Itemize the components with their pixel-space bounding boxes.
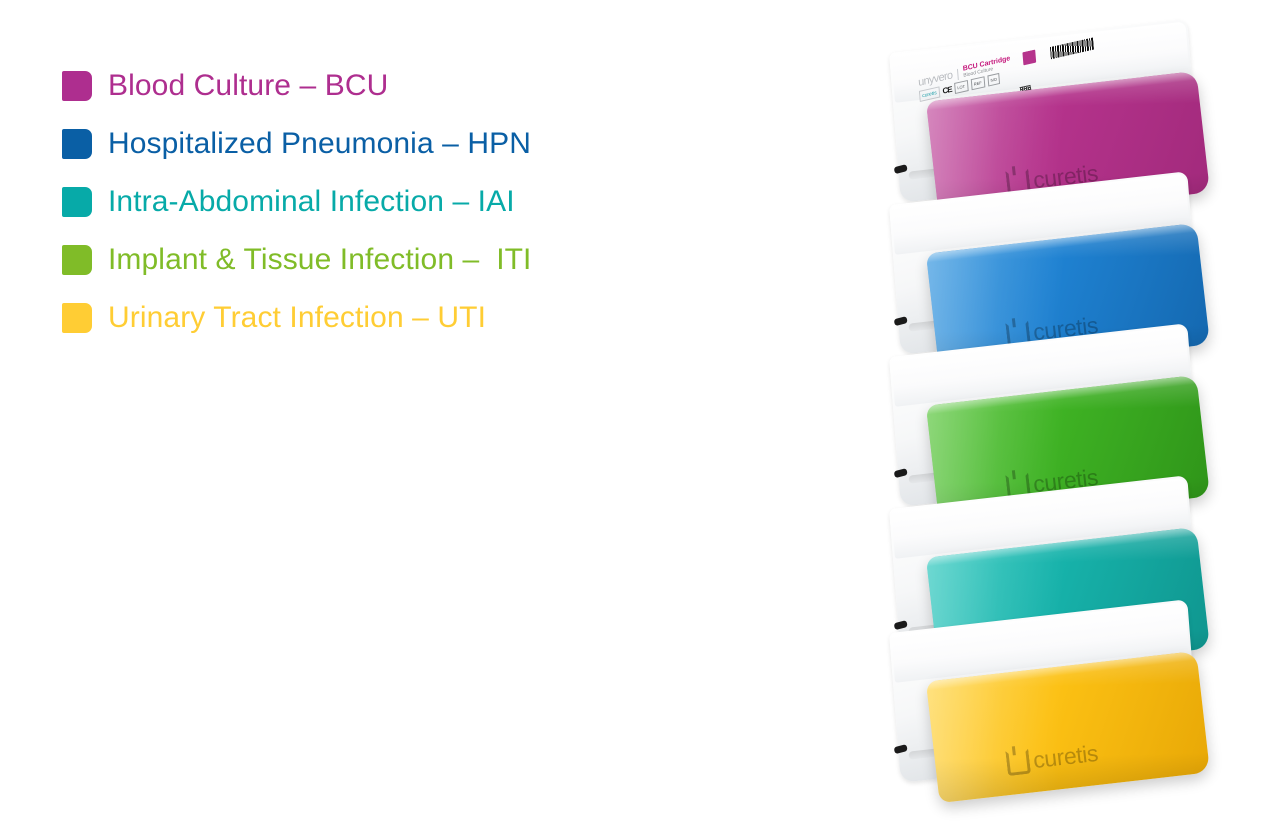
legend-label-iti: Implant & Tissue Infection – ITI (108, 243, 532, 277)
legend-label-hpn: Hospitalized Pneumonia – HPN (108, 127, 531, 161)
cartridge-pin-icon (894, 164, 908, 174)
panel-legend: Blood Culture – BCU Hospitalized Pneumon… (62, 57, 682, 347)
curetis-mark-icon (1005, 749, 1031, 776)
cartridge-uti: curetis (880, 608, 1260, 823)
legend-label-uti: Urinary Tract Infection – UTI (108, 301, 486, 335)
label-ref-box: REF (970, 76, 985, 90)
cartridge-pin-icon (894, 744, 908, 754)
legend-item-iti[interactable]: Implant & Tissue Infection – ITI (62, 231, 682, 289)
cartridge-pin-icon (894, 468, 908, 478)
label-ce-mark-icon: CE (942, 85, 952, 96)
cartridge-stack-image: unyvero BCU Cartridge Blood Culture cure… (880, 28, 1260, 744)
label-color-chip-icon (1023, 49, 1037, 65)
legend-label-bcu: Blood Culture – BCU (108, 69, 388, 103)
legend-label-iai: Intra-Abdominal Infection – IAI (108, 185, 515, 219)
label-ivd-box: IVD (987, 73, 1000, 87)
legend-item-uti[interactable]: Urinary Tract Infection – UTI (62, 289, 682, 347)
swatch-uti-icon (62, 303, 92, 333)
swatch-iti-icon (62, 245, 92, 275)
legend-item-iai[interactable]: Intra-Abdominal Infection – IAI (62, 173, 682, 231)
swatch-hpn-icon (62, 129, 92, 159)
swatch-bcu-icon (62, 71, 92, 101)
legend-item-hpn[interactable]: Hospitalized Pneumonia – HPN (62, 115, 682, 173)
label-lot-box: LOT (954, 80, 968, 94)
swatch-iai-icon (62, 187, 92, 217)
label-divider (957, 69, 959, 80)
legend-item-bcu[interactable]: Blood Culture – BCU (62, 57, 682, 115)
cartridge-pin-icon (894, 316, 908, 326)
